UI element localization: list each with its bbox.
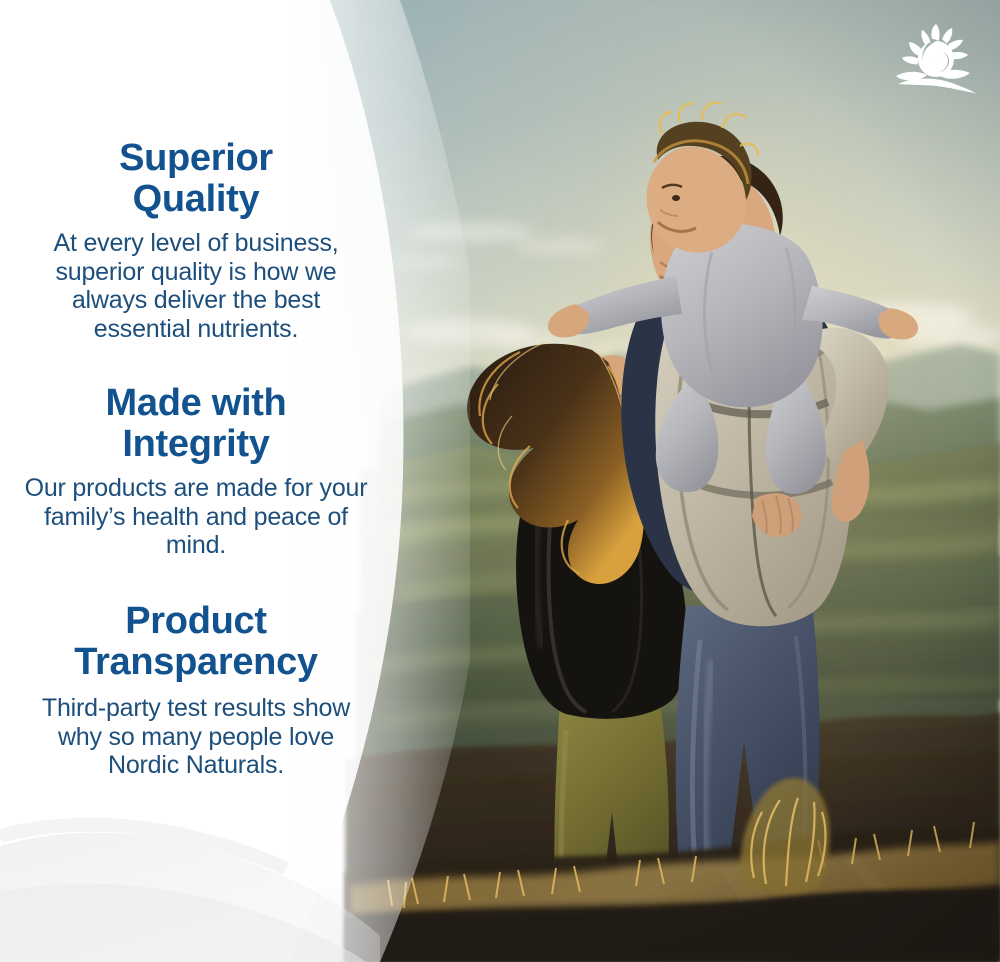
benefit-body: Our products are made for your family’s … xyxy=(0,474,392,560)
benefit-heading: SuperiorQuality xyxy=(0,138,392,220)
benefit-heading-line1: Superior xyxy=(119,137,273,179)
sun-waves-logo xyxy=(892,22,980,94)
benefit-heading-line1: Made with xyxy=(106,382,287,424)
benefit-heading-line1: Product xyxy=(125,600,266,642)
benefit-block-made-with-integrity: Made withIntegrity Our products are made… xyxy=(0,383,392,560)
benefit-heading-line2: Transparency xyxy=(74,641,318,683)
benefit-heading: Made withIntegrity xyxy=(0,383,392,465)
benefit-block-product-transparency: ProductTransparency Third-party test res… xyxy=(0,601,392,780)
benefits-copy: SuperiorQuality At every level of busine… xyxy=(0,0,392,962)
benefit-heading: ProductTransparency xyxy=(0,601,392,683)
promo-banner: SuperiorQuality At every level of busine… xyxy=(0,0,1000,962)
benefit-heading-line2: Integrity xyxy=(122,423,269,465)
benefit-heading-line2: Quality xyxy=(133,178,260,220)
benefit-block-superior-quality: SuperiorQuality At every level of busine… xyxy=(0,138,392,343)
benefit-body: Third-party test results show why so man… xyxy=(0,694,392,780)
benefit-body: At every level of business, superior qua… xyxy=(0,229,392,343)
